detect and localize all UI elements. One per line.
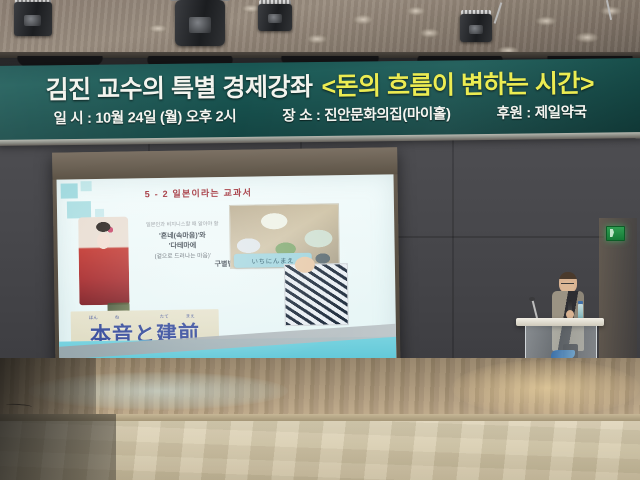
exit-sign-icon <box>606 226 625 241</box>
stage-light-body <box>175 0 225 46</box>
water-bottle-icon <box>578 304 583 319</box>
stage-light-body <box>14 2 53 36</box>
lecture-hall-photo: 김진 교수의 특별 경제강좌 <돈의 흐름이 변하는 시간> 일 시 : 10월… <box>0 0 640 480</box>
banner-subtitle: <돈의 흐름이 변하는 시간> <box>321 64 594 103</box>
stage-light-icon <box>255 0 295 31</box>
stage-light-lens <box>469 25 483 35</box>
banner-info-sponsor: 후원 : 제일약국 <box>496 101 586 123</box>
microphone-icon <box>529 297 535 301</box>
stage-light-body <box>460 14 492 42</box>
banner-info-datetime: 일 시 : 10월 24일 (월) 오후 2시 <box>53 105 236 128</box>
ceiling-downlight <box>148 24 168 33</box>
yukata-photo <box>284 263 349 326</box>
stage-light-lens <box>24 15 41 27</box>
slide-left-note: 일본인과 비지니스할 때 알아야 할 '혼네(속마음)'와 '다테마에 (겉으로… <box>127 221 238 273</box>
ceiling <box>0 0 640 60</box>
lectern-top <box>516 318 604 326</box>
glasses-icon <box>561 283 574 287</box>
stage-light-lens <box>189 17 211 33</box>
yukata-figure-head <box>295 257 315 273</box>
ceiling-downlight <box>535 16 557 26</box>
note-line-5: 구별법 <box>128 260 234 272</box>
slide-deco-square <box>61 183 78 198</box>
ceiling-downlight <box>419 28 440 38</box>
stage-light-icon <box>457 8 495 42</box>
stage-light-icon <box>170 0 230 46</box>
geisha-photo <box>78 217 129 306</box>
stage-light-body <box>258 4 292 31</box>
ceiling-downlight <box>352 14 374 25</box>
slide-deco-square <box>67 201 91 218</box>
stage-apron-left-shadow <box>0 414 116 480</box>
slide-title: 5 - 2 일본이라는 교과서 <box>145 186 252 201</box>
slide-deco-square <box>81 181 92 191</box>
exit-sign-figure <box>610 229 614 237</box>
ceiling-downlight <box>406 6 426 16</box>
stage-light-icon <box>10 0 56 36</box>
banner-main-title: 김진 교수의 특별 경제강좌 <box>45 67 312 106</box>
banner-info-venue: 장 소 : 진안문화의집(마이홀) <box>282 102 450 125</box>
stage-light-pool-warm <box>452 360 640 416</box>
ceiling-downlight <box>306 34 328 44</box>
slide-deco-square <box>95 209 104 217</box>
stage-light-lens <box>268 14 283 23</box>
event-banner: 김진 교수의 특별 경제강좌 <돈의 흐름이 변하는 시간> 일 시 : 10월… <box>0 58 640 144</box>
ceiling-downlight <box>575 32 599 43</box>
presentation-slide: 5 - 2 일본이라는 교과서 일본인과 비지니스할 때 알아야 할 '혼네(속… <box>57 174 397 375</box>
note-line-1: 일본인과 비지니스할 때 알아야 할 <box>127 221 237 231</box>
ceiling-grain <box>0 0 640 60</box>
